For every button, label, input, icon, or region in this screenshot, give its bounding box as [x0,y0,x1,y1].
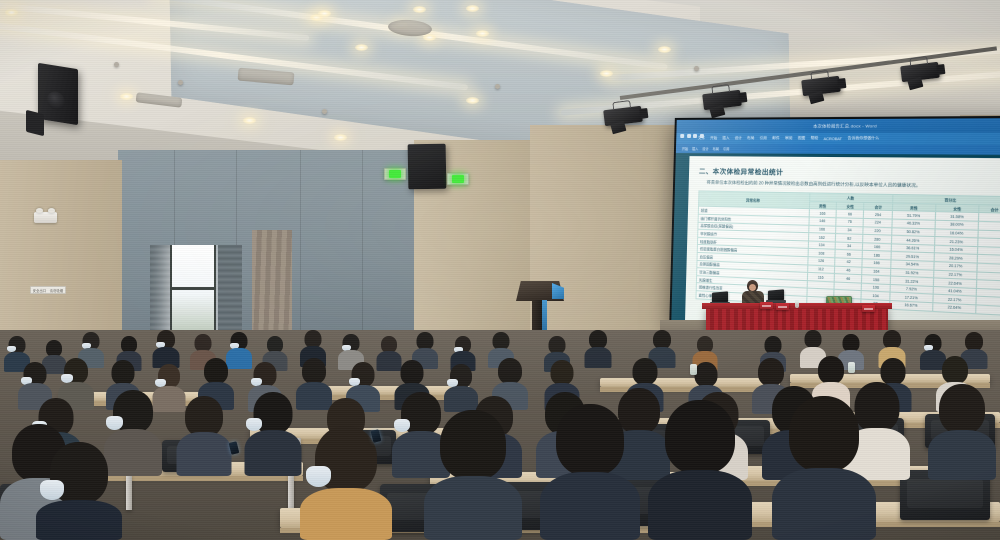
wall-monitor-icon [408,144,447,190]
ribbon-tab[interactable]: 设计 [734,136,741,141]
attendee [424,410,522,540]
downlight-icon [355,44,368,51]
document-heading: 二、本次体检异常检出统计 [699,165,1000,179]
ribbon-tab[interactable]: 布局 [747,136,755,141]
desk-leg [126,474,132,510]
downlight-icon [5,9,18,16]
downlight-icon [600,70,613,77]
attendee [540,404,640,540]
table-cell-total-p [976,305,1000,315]
ribbon-tab[interactable]: 引用 [759,136,767,141]
nameplate [776,303,789,310]
attendee [772,396,876,540]
emergency-light-icon [34,212,57,223]
loudspeaker-icon [38,63,78,125]
downlight-icon [318,10,331,17]
ribbon-tab[interactable]: 帮助 [810,136,818,141]
ribbon-cmd[interactable]: 开始 [682,146,688,151]
table-cell-male-p: 16.67% [890,301,933,311]
conference-hall-photo: 安全出口 请勿吸烟 本次体检报告汇总.docx - Word 文件 开始 插入 … [0,0,1000,540]
attendee [928,384,996,480]
ribbon-tab[interactable]: ACROBAT [824,136,843,140]
table-cell-female-p: 22.64% [932,303,976,314]
ribbon-tab[interactable]: 视图 [798,136,806,141]
sprinkler-icon [495,84,500,89]
save-icon[interactable] [680,134,684,138]
attendee [176,396,231,476]
attendee [244,392,301,476]
nameplate [760,302,773,309]
exit-sign-left [384,168,406,180]
attendee [36,442,122,540]
ribbon-cmd[interactable]: 设计 [702,146,708,151]
sprinkler-icon [114,62,119,67]
ribbon-tab[interactable]: 邮件 [772,136,780,141]
ribbon-cmd[interactable]: 布局 [713,146,720,151]
downlight-icon [658,46,671,53]
desk-leg [288,472,294,508]
sprinkler-icon [322,109,327,114]
downlight-icon [334,134,347,141]
sprinkler-icon [178,80,183,85]
downlight-icon [466,97,479,104]
water-bottle [795,300,799,308]
downlight-icon [466,5,479,12]
undo-icon[interactable] [687,134,691,138]
customize-icon[interactable] [699,134,703,138]
wall-sign-left: 安全出口 请勿吸烟 [30,286,66,294]
ribbon-tab[interactable]: 开始 [710,136,717,141]
speaker-bracket [26,110,44,136]
ribbon-tab[interactable]: 插入 [722,136,729,141]
water-cup [848,362,855,373]
word-ribbon-tabs[interactable]: 文件 开始 插入 设计 布局 引用 邮件 审阅 视图 帮助 ACROBAT 告诉… [676,133,1000,145]
attendee [300,426,392,540]
quick-access-toolbar[interactable] [680,134,703,138]
word-titlebar: 本次体检报告汇总.docx - Word [676,118,1000,133]
wall-sign-text-a: 安全出口 [33,288,47,293]
attendee [648,400,752,540]
water-cup [690,364,697,375]
nameplate [862,305,875,312]
ribbon-cmd[interactable]: 引用 [723,146,730,151]
ribbon-tab-tellme[interactable]: 告诉我你想做什么 [847,136,879,141]
downlight-icon [423,34,436,41]
ribbon-tab[interactable]: 审阅 [785,136,793,141]
word-document-title: 本次体检报告汇总.docx - Word [813,123,877,130]
downlight-icon [243,117,256,124]
attendee [584,330,611,368]
downlight-icon [413,6,426,13]
downlight-icon [476,30,489,37]
wall-sign-text-b: 请勿吸烟 [50,288,64,293]
ribbon-cmd[interactable]: 插入 [692,146,698,151]
exit-sign-right [447,173,469,185]
downlight-icon [120,93,133,100]
word-ribbon-commands[interactable]: 开始 插入 设计 布局 引用 [676,144,1000,155]
document-paragraph: 将贵单位本次体检检出的前 20 种异常情况按检出总数由高到低进行统计分析,以反映… [699,179,1000,190]
attendee [152,330,179,368]
sprinkler-icon [694,66,699,71]
redo-icon[interactable] [693,134,697,138]
